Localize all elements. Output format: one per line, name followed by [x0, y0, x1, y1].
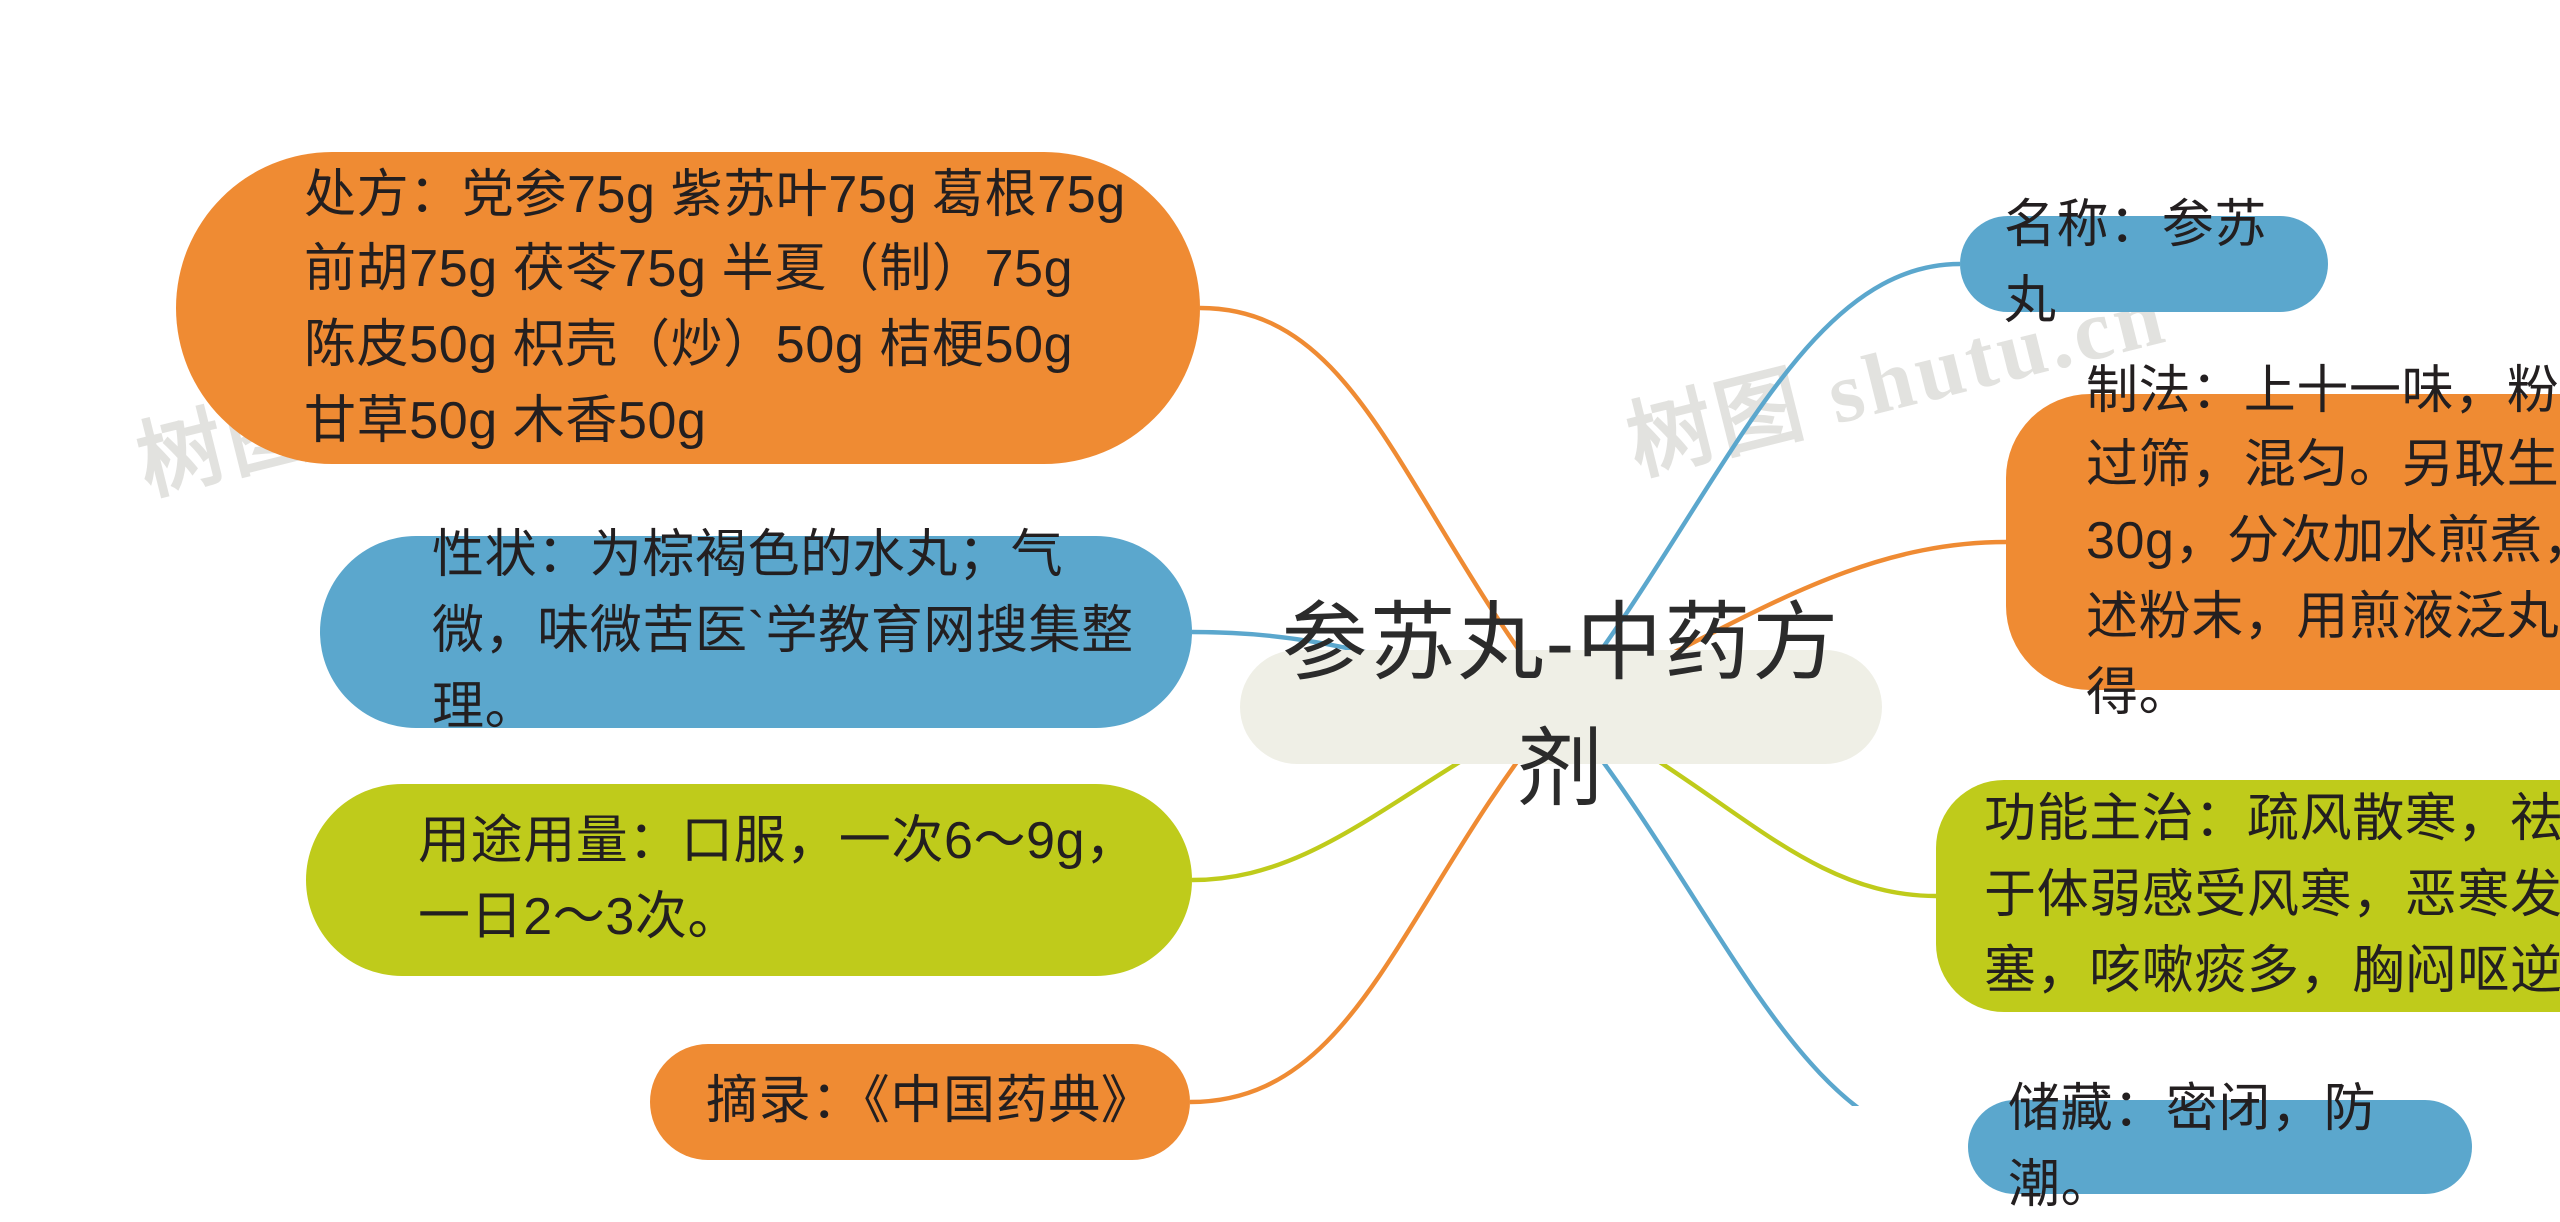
- node-name[interactable]: 名称：参苏丸: [1960, 216, 2328, 312]
- node-source[interactable]: 摘录：《中国药典》: [650, 1044, 1190, 1160]
- mindmap-canvas: 树图 shutu.cn 树图 shutu.cn 处方：党参75g 紫苏叶75g …: [0, 0, 2560, 1106]
- node-indications-label: 功能主治：疏风散寒，祛痰止咳。用于体弱感受风寒，恶寒发热，头痛鼻塞，咳嗽痰多，胸…: [1984, 783, 2560, 1009]
- node-dosage-label: 用途用量：口服，一次6～9g，一日2～3次。: [418, 805, 1140, 956]
- node-storage[interactable]: 储藏：密闭，防潮。: [1968, 1100, 2472, 1194]
- root-node[interactable]: 参苏丸-中药方剂: [1240, 650, 1882, 764]
- node-dosage[interactable]: 用途用量：口服，一次6～9g，一日2～3次。: [306, 784, 1192, 976]
- node-method[interactable]: 制法：上十一味，粉碎成细粉，过筛，混匀。另取生姜30g、大枣30g，分次加水煎煮…: [2006, 394, 2560, 690]
- node-storage-label: 储藏：密闭，防潮。: [2008, 1072, 2444, 1222]
- node-prescription-label: 处方：党参75g 紫苏叶75g 葛根75g 前胡75g 茯苓75g 半夏（制）7…: [304, 157, 1140, 459]
- node-prescription[interactable]: 处方：党参75g 紫苏叶75g 葛根75g 前胡75g 茯苓75g 半夏（制）7…: [176, 152, 1200, 464]
- node-properties[interactable]: 性状：为棕褐色的水丸；气微，味微苦医`学教育网搜集整理。: [320, 536, 1192, 728]
- node-properties-label: 性状：为棕褐色的水丸；气微，味微苦医`学教育网搜集整理。: [432, 519, 1140, 745]
- root-node-title: 参苏丸-中药方剂: [1240, 582, 1882, 831]
- node-name-label: 名称：参苏丸: [2004, 189, 2296, 340]
- node-source-label: 摘录：《中国药典》: [706, 1064, 1150, 1139]
- node-indications[interactable]: 功能主治：疏风散寒，祛痰止咳。用于体弱感受风寒，恶寒发热，头痛鼻塞，咳嗽痰多，胸…: [1936, 780, 2560, 1012]
- node-method-label: 制法：上十一味，粉碎成细粉，过筛，混匀。另取生姜30g、大枣30g，分次加水煎煮…: [2086, 354, 2560, 731]
